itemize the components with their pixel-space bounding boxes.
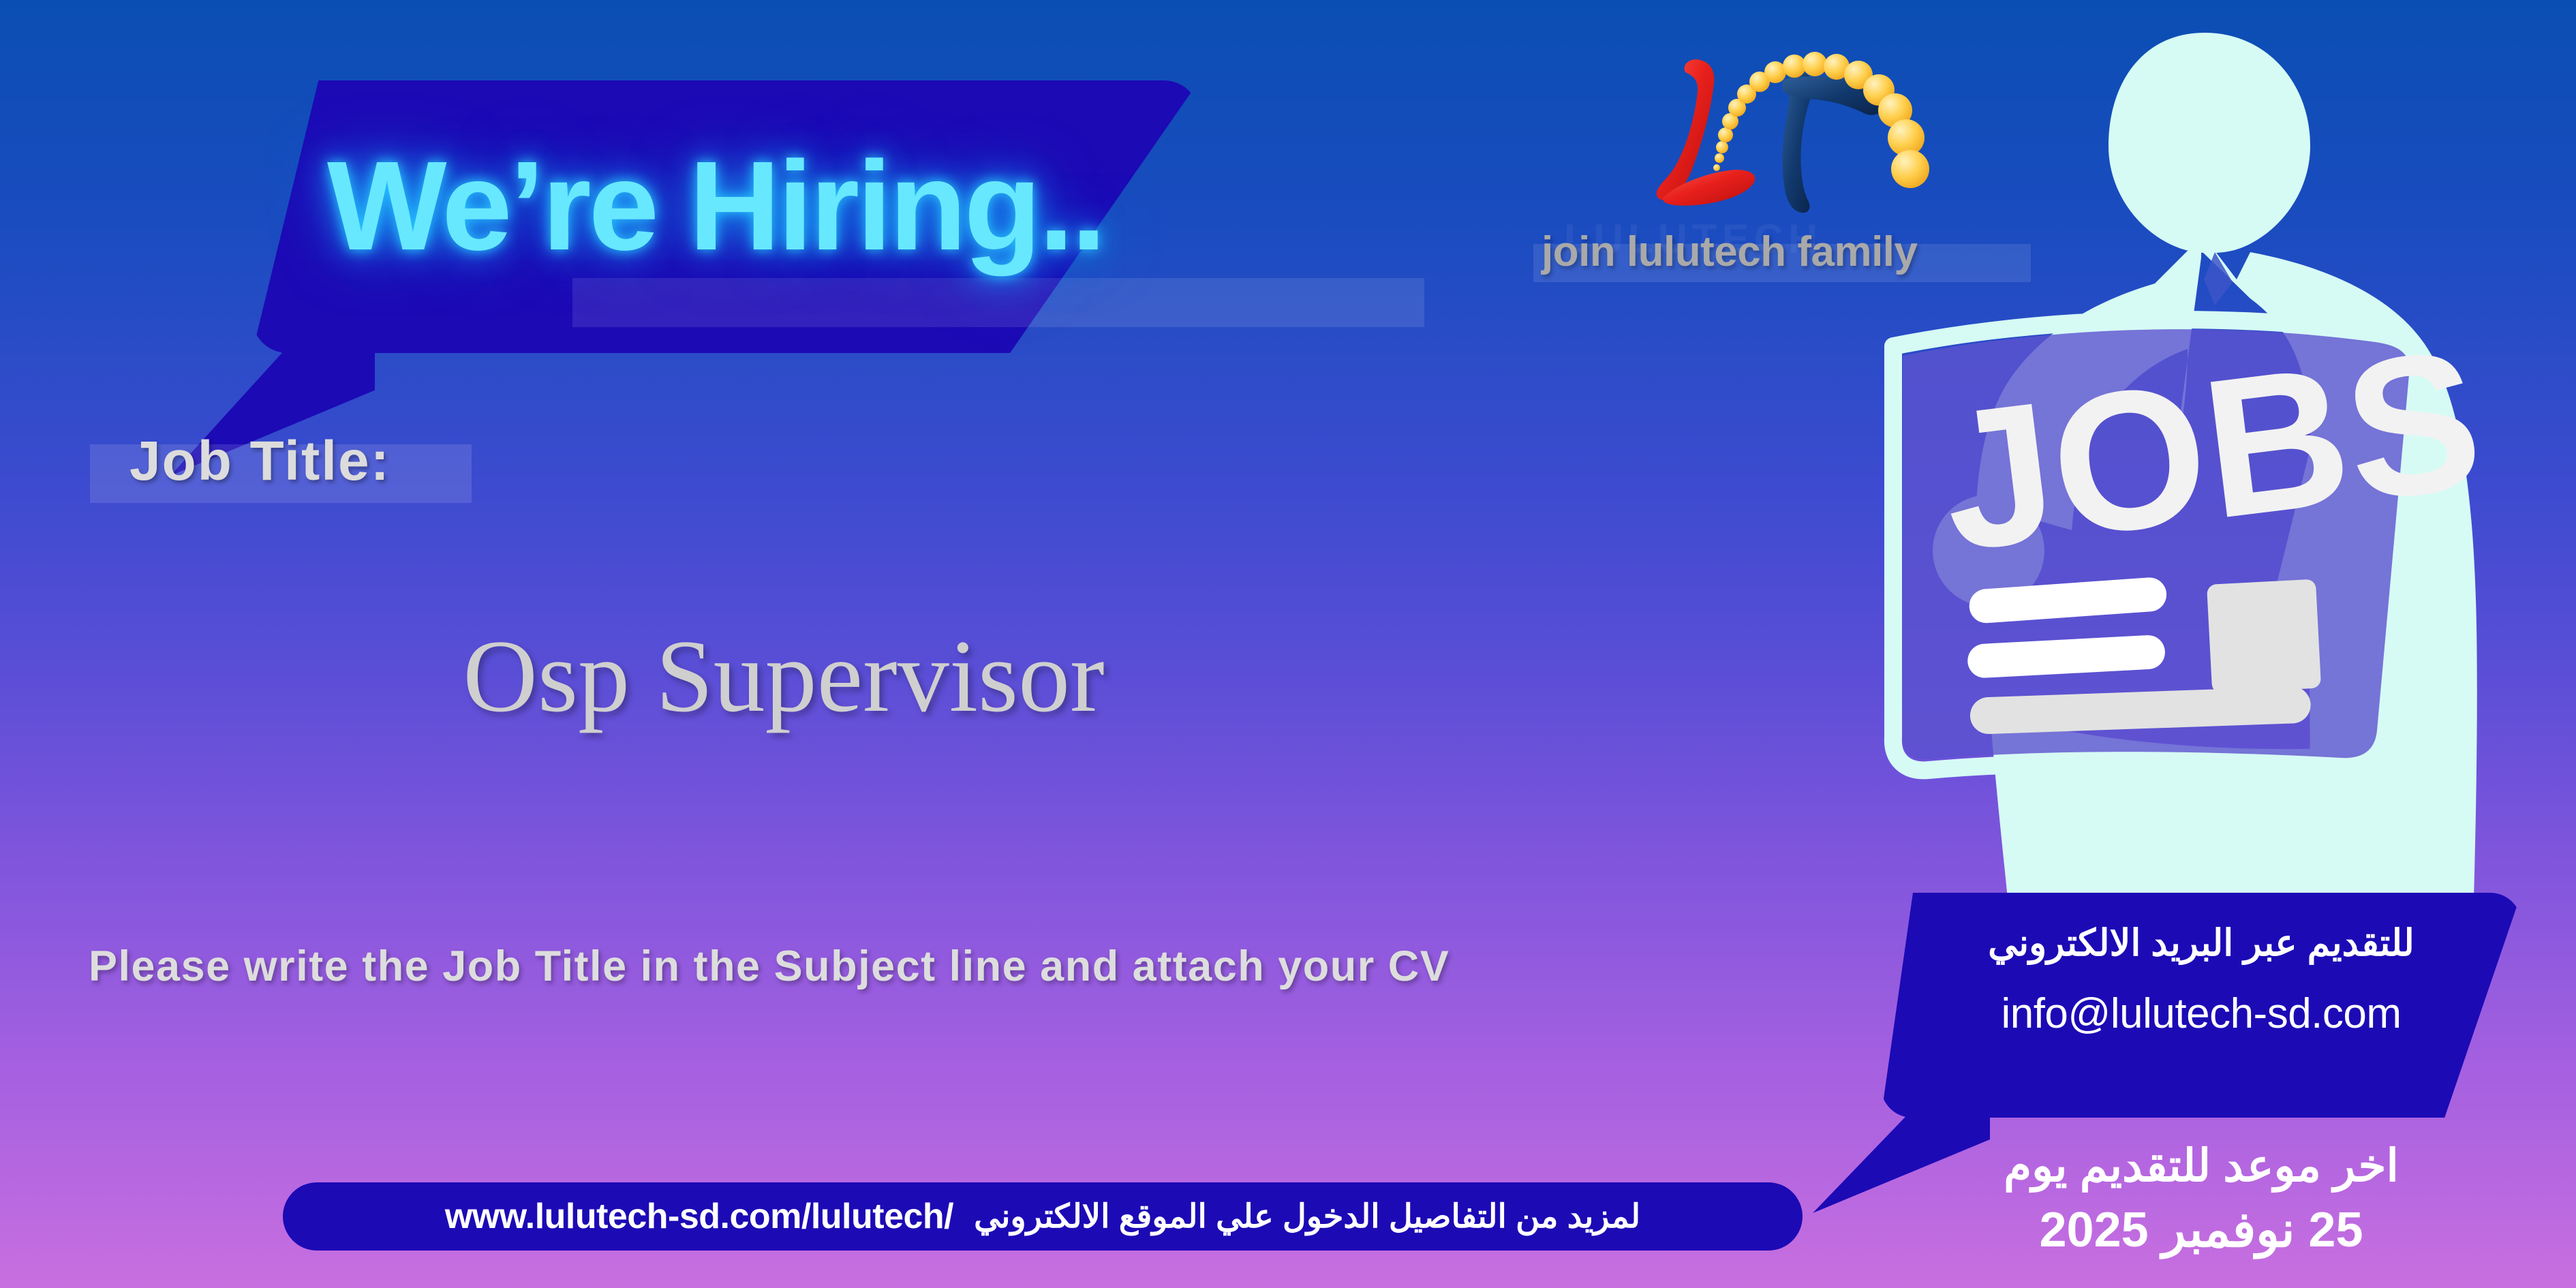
email-label: للتقديم عبر البريد الالكتروني xyxy=(1881,921,2521,964)
job-title-label: Job Title: xyxy=(129,429,390,493)
person-graphic: JOBS xyxy=(1833,12,2576,912)
website-bar[interactable]: لمزيد من التفاصيل الدخول علي الموقع الال… xyxy=(283,1182,1803,1251)
website-url[interactable]: www.lulutech-sd.com/lulutech/ xyxy=(445,1196,953,1237)
website-note: لمزيد من التفاصيل الدخول علي الموقع الال… xyxy=(974,1197,1640,1236)
hiring-speech-bubble: We’re Hiring.. xyxy=(252,80,1199,353)
email-address[interactable]: info@lulutech-sd.com xyxy=(1881,990,2521,1038)
suit-collar xyxy=(2204,252,2233,305)
logo-letter-l xyxy=(1657,59,1755,206)
application-instruction: Please write the Job Title in the Subjec… xyxy=(89,942,1450,991)
hiring-headline: We’re Hiring.. xyxy=(327,134,1103,279)
deadline-label: اخر موعد للتقديم يوم xyxy=(1881,1139,2521,1192)
deadline-date: 25 نوفمبر 2025 xyxy=(1881,1201,2521,1258)
hiring-highlight-band xyxy=(572,278,1424,327)
newspaper-image-block xyxy=(2207,579,2321,694)
job-title-value: Osp Supervisor xyxy=(0,617,1567,735)
job-seeker-illustration: JOBS xyxy=(1833,12,2576,912)
email-speech-bubble: للتقديم عبر البريد الالكتروني info@lulut… xyxy=(1881,893,2521,1118)
